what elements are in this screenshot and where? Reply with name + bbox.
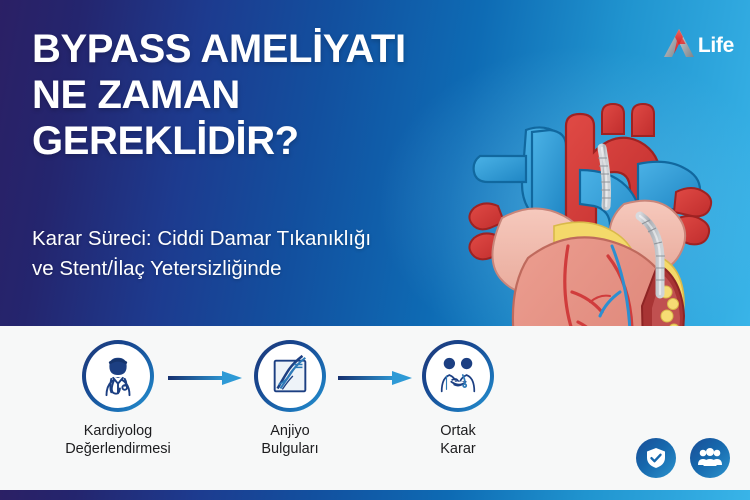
step-circle bbox=[422, 340, 494, 412]
people-group-icon bbox=[697, 446, 723, 470]
shield-check-icon bbox=[644, 446, 668, 470]
step-label: Anjiyo Bulguları bbox=[214, 422, 366, 458]
step-circle bbox=[82, 340, 154, 412]
bottom-accent-bar bbox=[0, 490, 750, 500]
subtitle-line-1: Karar Süreci: Ciddi Damar Tıkanıklığı bbox=[32, 224, 452, 254]
page-subtitle: Karar Süreci: Ciddi Damar Tıkanıklığı ve… bbox=[32, 224, 452, 284]
process-step-cardiologist[interactable]: Kardiyolog Değerlendirmesi bbox=[42, 340, 194, 458]
title-line-3: GEREKLİDİR? bbox=[32, 118, 462, 164]
angiogram-icon bbox=[267, 353, 313, 399]
process-flow: Kardiyolog Değerlendirmesi bbox=[18, 340, 498, 480]
step-label: Kardiyolog Değerlendirmesi bbox=[42, 422, 194, 458]
step-label: Ortak Karar bbox=[382, 422, 534, 458]
shield-check-badge[interactable] bbox=[636, 438, 676, 478]
process-step-angiography[interactable]: Anjiyo Bulguları bbox=[214, 340, 366, 458]
infographic-canvas: BYPASS AMELİYATI NE ZAMAN GEREKLİDİR? Ka… bbox=[0, 0, 750, 500]
step-circle bbox=[254, 340, 326, 412]
handshake-icon bbox=[435, 353, 481, 399]
brand-logo[interactable]: Life bbox=[662, 28, 734, 63]
process-step-shared-decision[interactable]: Ortak Karar bbox=[382, 340, 534, 458]
trust-badges bbox=[636, 438, 730, 478]
subtitle-line-2: ve Stent/İlaç Yetersizliğinde bbox=[32, 254, 452, 284]
title-line-1: BYPASS AMELİYATI bbox=[32, 26, 462, 72]
doctor-icon bbox=[95, 353, 141, 399]
people-group-badge[interactable] bbox=[690, 438, 730, 478]
page-title: BYPASS AMELİYATI NE ZAMAN GEREKLİDİR? bbox=[32, 26, 462, 164]
logo-text: Life bbox=[698, 35, 734, 56]
a-triangle-mark-icon bbox=[662, 28, 696, 63]
title-line-2: NE ZAMAN bbox=[32, 72, 462, 118]
